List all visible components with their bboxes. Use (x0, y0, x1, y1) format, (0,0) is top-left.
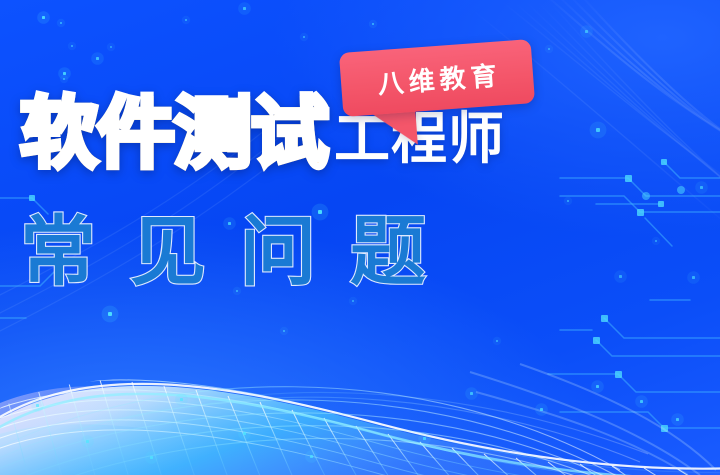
particle-glow (305, 450, 318, 463)
particle-dot (150, 456, 153, 459)
particle-glow (580, 25, 593, 38)
particle-dot (655, 240, 657, 242)
page-title: 软件测试 (20, 96, 328, 172)
particle-glow (107, 43, 115, 51)
particle-dot (63, 72, 66, 75)
particle-glow (635, 395, 648, 408)
particle-dot (71, 45, 73, 47)
particle-dot (470, 392, 473, 395)
particle-glow (31, 399, 44, 412)
particle-dot (243, 432, 246, 435)
particle-glow (175, 393, 188, 406)
particle-dot (692, 276, 695, 279)
particle-glow (535, 403, 548, 416)
particle-dot (243, 7, 246, 10)
particle-dot (585, 30, 588, 33)
particle-dot (352, 300, 354, 302)
particle-glow (369, 20, 377, 28)
particle-dot (372, 23, 374, 25)
particle-dot (108, 312, 112, 316)
particle-dot (596, 385, 599, 388)
particle-glow (91, 52, 104, 65)
particle-glow (280, 327, 288, 335)
particle-dot (60, 22, 62, 24)
particle-glow (145, 451, 158, 464)
particle-dot (42, 16, 45, 19)
particle-glow (300, 33, 308, 41)
particle-glow (57, 19, 65, 27)
particle-glow (614, 270, 627, 283)
particle-glow (58, 67, 71, 80)
particle-glow (102, 306, 119, 323)
particle-glow (545, 45, 553, 53)
particle-glow (591, 380, 604, 393)
particle-dot (567, 200, 569, 202)
particle-glow (695, 181, 708, 194)
banner-canvas: 软件测试 工程师 常见问题 八维教育 (0, 0, 720, 475)
particle-glow (465, 387, 478, 400)
particle-glow (60, 75, 68, 83)
particle-glow (81, 435, 94, 448)
particle-glow (349, 297, 357, 305)
particle-glow (37, 11, 50, 24)
particle-glow (238, 427, 251, 440)
particle-glow (671, 413, 684, 426)
particle-glow (182, 16, 190, 24)
particle-glow (590, 122, 607, 139)
particle-dot (700, 186, 703, 189)
particle-dot (96, 57, 99, 60)
particle-dot (423, 437, 426, 440)
particle-dot (548, 48, 550, 50)
particle-dot (676, 418, 679, 421)
particle-dot (185, 19, 187, 21)
particle-glow (238, 2, 251, 15)
particle-dot (310, 455, 313, 458)
particle-glow (493, 337, 501, 345)
particle-dot (640, 400, 643, 403)
particle-dot (619, 275, 622, 278)
particle-glow (564, 197, 572, 205)
brand-badge-bubble: 八维教育 (339, 39, 535, 117)
particle-dot (540, 408, 543, 411)
section-heading: 常见问题 (20, 214, 460, 290)
particle-glow (687, 271, 700, 284)
particle-dot (180, 398, 183, 401)
particle-glow (652, 237, 660, 245)
particle-dot (596, 128, 600, 132)
particle-dot (36, 404, 39, 407)
particle-dot (63, 78, 65, 80)
particle-dot (303, 36, 305, 38)
particle-glow (418, 432, 431, 445)
particle-dot (110, 46, 112, 48)
brand-badge-label: 八维教育 (339, 39, 535, 117)
particle-dot (86, 440, 89, 443)
particle-glow (68, 42, 76, 50)
particle-dot (283, 330, 285, 332)
particle-dot (496, 340, 498, 342)
